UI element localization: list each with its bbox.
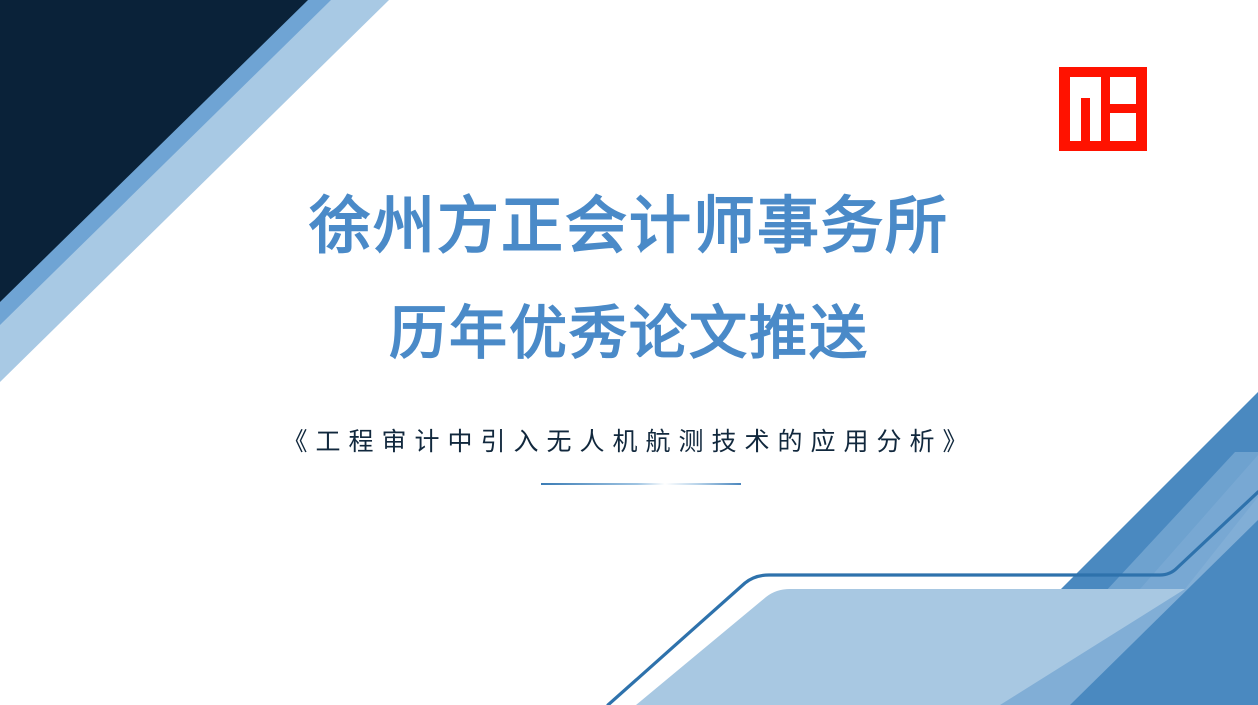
- slide-canvas: 徐州方正会计师事务所 历年优秀论文推送 《工程审计中引入无人机航测技术的应用分析…: [0, 0, 1258, 705]
- title-block: 徐州方正会计师事务所 历年优秀论文推送 《工程审计中引入无人机航测技术的应用分析…: [0, 0, 1258, 705]
- title-line-primary: 徐州方正会计师事务所: [0, 196, 1258, 258]
- title-line-secondary: 历年优秀论文推送: [0, 305, 1258, 363]
- paper-title-subtitle: 《工程审计中引入无人机航测技术的应用分析》: [0, 430, 1258, 455]
- title-divider: [541, 483, 741, 485]
